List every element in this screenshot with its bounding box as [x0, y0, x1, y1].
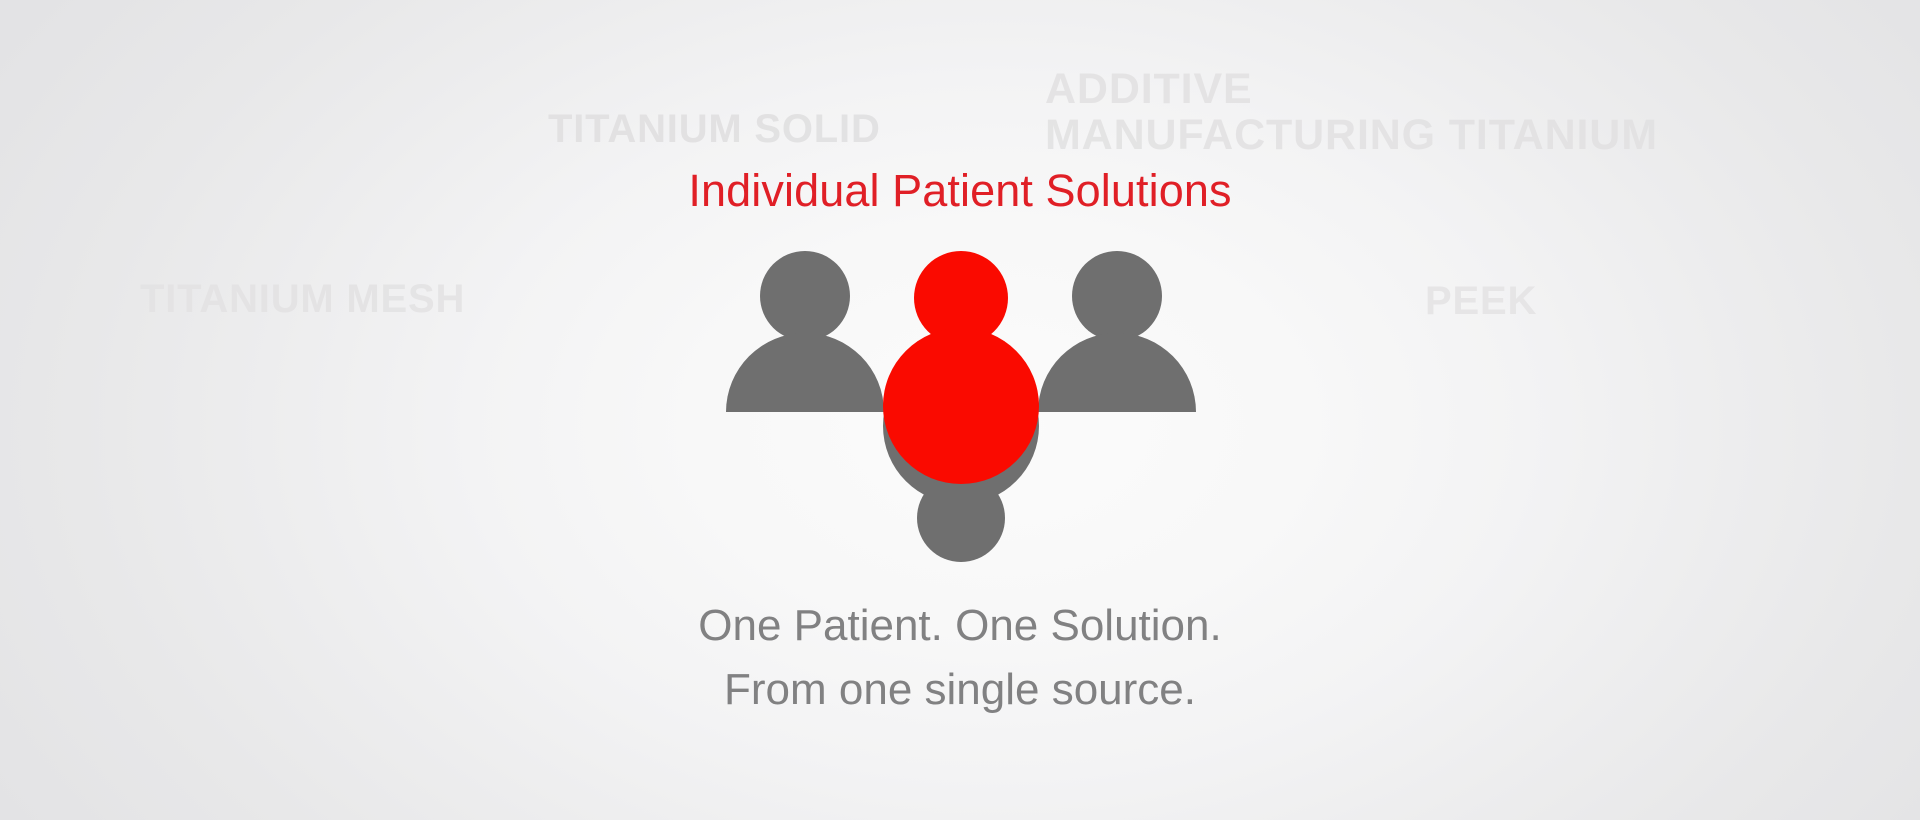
person-left-icon: [726, 251, 884, 412]
tagline-line-1: One Patient. One Solution.: [0, 594, 1920, 658]
watermark-titanium-solid: TITANIUM SOLID: [548, 108, 881, 151]
tagline-line-2: From one single source.: [0, 658, 1920, 722]
person-right-icon: [1038, 251, 1196, 412]
slide-canvas: TITANIUM SOLID ADDITIVE MANUFACTURING TI…: [0, 0, 1920, 820]
person-highlight-center-icon: [883, 251, 1039, 484]
watermark-additive-manufacturing: ADDITIVE MANUFACTURING TITANIUM: [1045, 66, 1658, 159]
people-icon-svg: [726, 246, 1196, 564]
watermark-peek: PEEK: [1425, 280, 1537, 323]
page-title: Individual Patient Solutions: [0, 166, 1920, 216]
tagline: One Patient. One Solution. From one sing…: [0, 594, 1920, 722]
watermark-additive-line1: ADDITIVE: [1045, 65, 1253, 113]
watermark-additive-line2: MANUFACTURING TITANIUM: [1045, 111, 1658, 159]
watermark-titanium-mesh: TITANIUM MESH: [140, 278, 465, 321]
three-people-group-icon: [726, 246, 1196, 564]
